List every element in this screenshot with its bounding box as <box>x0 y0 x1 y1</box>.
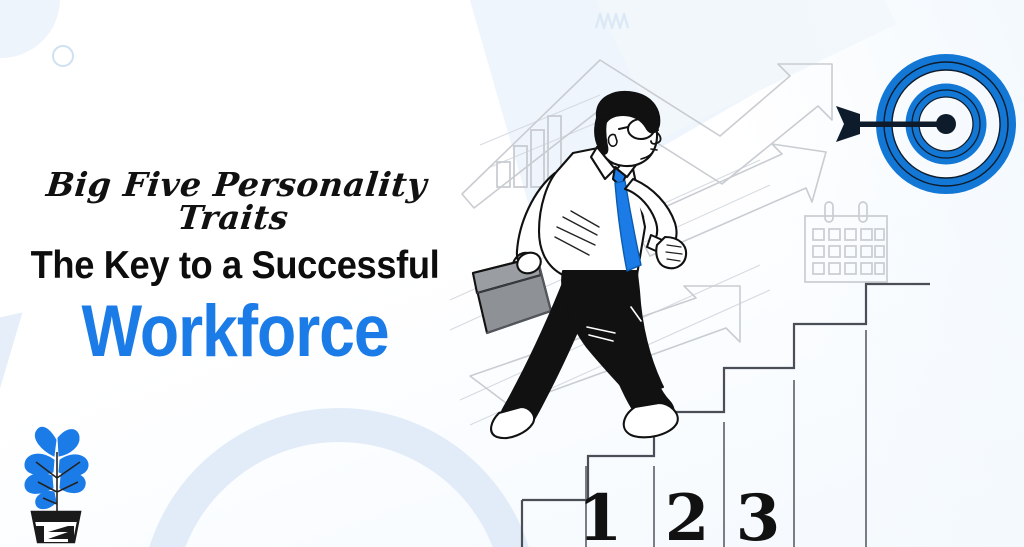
target-icon <box>826 58 1016 188</box>
corner-blob-decoration <box>0 0 60 58</box>
step-number-1: 1 <box>578 481 623 547</box>
businessman-climbing-stairs <box>455 95 745 435</box>
potted-plant-logo <box>10 418 102 543</box>
banner: Big Five Personality Traits The Key to a… <box>0 0 1024 547</box>
step-number-2: 2 <box>665 481 710 547</box>
headline-accent-line: Workforce <box>28 295 442 368</box>
illustration: 1 2 3 <box>440 0 1024 547</box>
step-number-3: 3 <box>736 481 781 547</box>
headline-bold-line: The Key to a Successful <box>16 246 453 285</box>
headline-block: Big Five Personality Traits The Key to a… <box>0 168 470 368</box>
small-ring-decoration <box>52 45 74 67</box>
headline-script-line: Big Five Personality Traits <box>0 168 473 234</box>
